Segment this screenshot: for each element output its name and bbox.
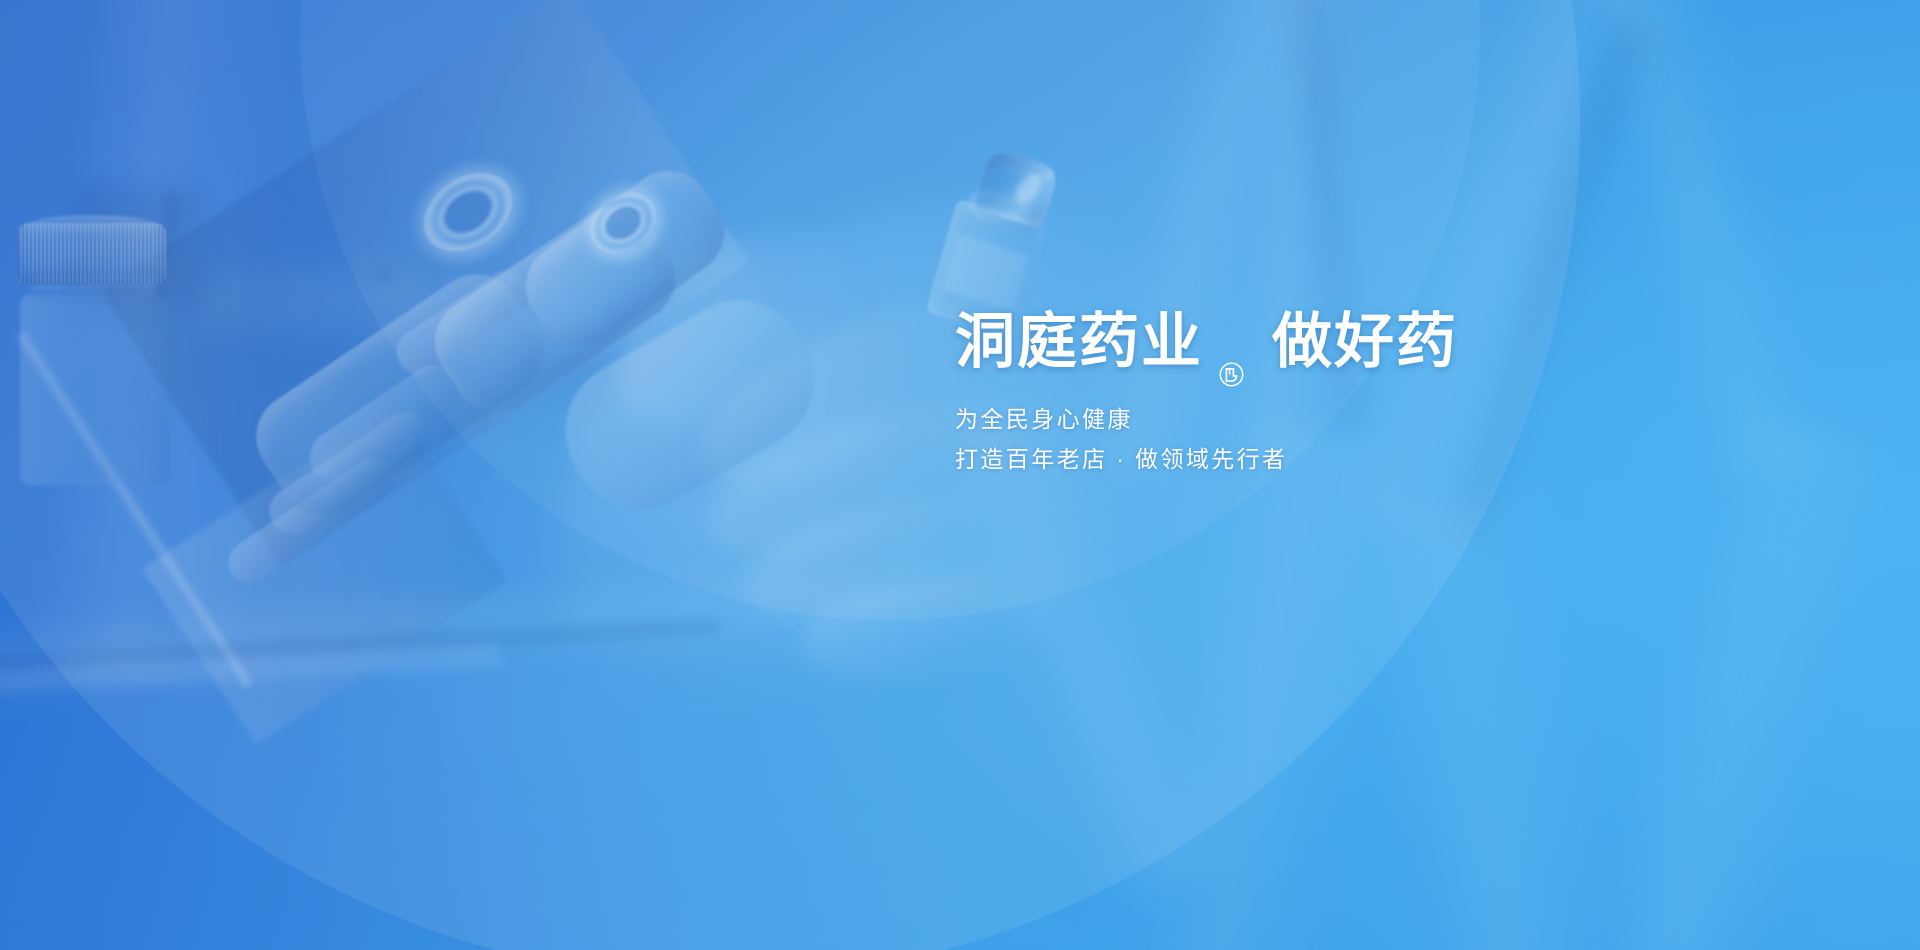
headline-part-two: 做好药: [1272, 310, 1458, 374]
banner-copy: 洞庭药业 做好药 为全民身心健康 打造百年老店 · 做领域先行者: [955, 310, 1655, 478]
banner-headline: 洞庭药业 做好药: [955, 310, 1655, 374]
dongting-circular-logo-icon: [1219, 335, 1244, 360]
headline-part-one: 洞庭药业: [955, 310, 1203, 374]
banner-subtitle-line-2: 打造百年老店 · 做领域先行者: [955, 440, 1655, 478]
hero-banner: 洞庭药业 做好药 为全民身心健康 打造百年老店 · 做领域先行者: [0, 0, 1920, 950]
banner-subtitle-line-1: 为全民身心健康: [955, 400, 1655, 438]
